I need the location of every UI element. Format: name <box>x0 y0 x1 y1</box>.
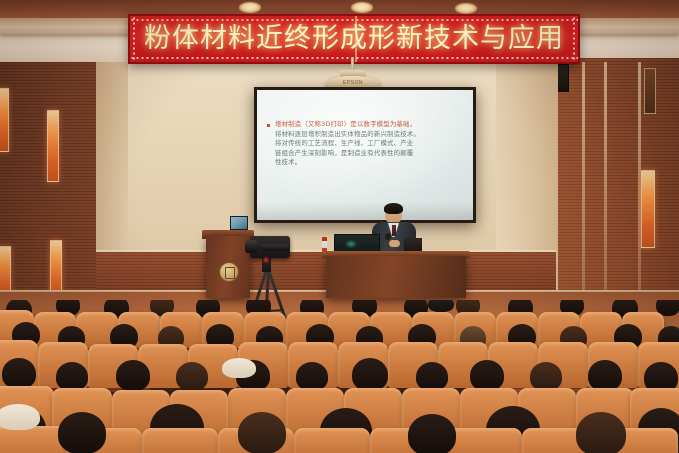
audience-member-cap <box>428 300 454 312</box>
slide-line-5: 性技术。 <box>275 158 461 168</box>
camera-lcd-screen <box>230 216 248 230</box>
downlight-left <box>239 2 261 13</box>
audience-member <box>116 360 150 391</box>
auditorium-seat <box>294 428 370 453</box>
audience-member <box>470 360 504 391</box>
audience-member <box>2 358 36 389</box>
auditorium-lecture-photo: 粉体材料近终形成形新技术与应用 EPSON 增材制造（又称3D打印）是以数字模型… <box>0 0 679 453</box>
presenter-hands <box>389 240 400 247</box>
audience-member <box>238 412 286 453</box>
downlight-far-right <box>455 3 477 14</box>
slide-line-4: 链组合产生深刻影响，是制造业有代表性的颠覆 <box>275 149 461 159</box>
projector-brand-label: EPSON <box>326 80 380 86</box>
slide-content: 增材制造（又称3D打印）是以数字模型为基础， 将材料逐层增积制造出实体物品的新兴… <box>275 120 461 168</box>
camera-lens-icon <box>245 240 257 253</box>
slide-bullet-marker <box>267 124 270 127</box>
wall-lightslot-r2 <box>641 170 655 248</box>
wall-lightslot-l1 <box>0 88 9 152</box>
audience-member <box>296 362 328 391</box>
wall-lightslot-l2 <box>47 110 59 182</box>
wall-seam-right-2 <box>582 62 585 296</box>
banner-title-text: 粉体材料近终形成形新技术与应用 <box>130 23 578 55</box>
audience-member <box>56 362 88 391</box>
audience-member <box>530 362 562 391</box>
audience-member <box>408 414 456 453</box>
downlight-right <box>351 2 373 13</box>
audience-member <box>588 360 622 391</box>
laptop-display-glow <box>345 240 357 248</box>
auditorium-seat <box>446 428 522 453</box>
presenter-hair <box>384 203 403 214</box>
slide-line-1: 增材制造（又称3D打印）是以数字模型为基础， <box>275 120 461 130</box>
led-banner: 粉体材料近终形成形新技术与应用 <box>128 14 580 64</box>
video-camera <box>250 236 290 258</box>
camera-record-indicator <box>264 258 268 262</box>
slide-line-3: 将对传统的工艺流程、生产线、工厂模式、产业 <box>275 139 461 149</box>
audience-member <box>58 412 106 453</box>
projection-screen: 增材制造（又称3D打印）是以数字模型为基础， 将材料逐层增积制造出实体物品的新兴… <box>257 90 473 220</box>
speaker-table <box>326 256 466 298</box>
audience-member-cap <box>0 404 40 430</box>
wall-lightslot-r1 <box>644 68 656 114</box>
slide-line-2: 将材料逐层增积制造出实体物品的新兴制造技术。 <box>275 130 461 140</box>
projection-screen-frame: 增材制造（又称3D打印）是以数字模型为基础， 将材料逐层增积制造出实体物品的新兴… <box>254 87 476 223</box>
audience-member <box>352 358 388 391</box>
microphone-head <box>385 233 391 240</box>
audience-member <box>416 362 448 391</box>
bottle-cap <box>322 237 327 241</box>
audience-member <box>176 362 208 391</box>
camera-top-handle <box>262 244 288 251</box>
screen-bottom-shading <box>257 202 473 220</box>
audience-seating <box>0 300 679 453</box>
audience-member-cap <box>222 358 256 378</box>
auditorium-seat <box>142 428 218 453</box>
audience-member <box>576 412 626 453</box>
presenter-tie <box>392 225 396 236</box>
wall-seam-right-3 <box>604 62 607 296</box>
